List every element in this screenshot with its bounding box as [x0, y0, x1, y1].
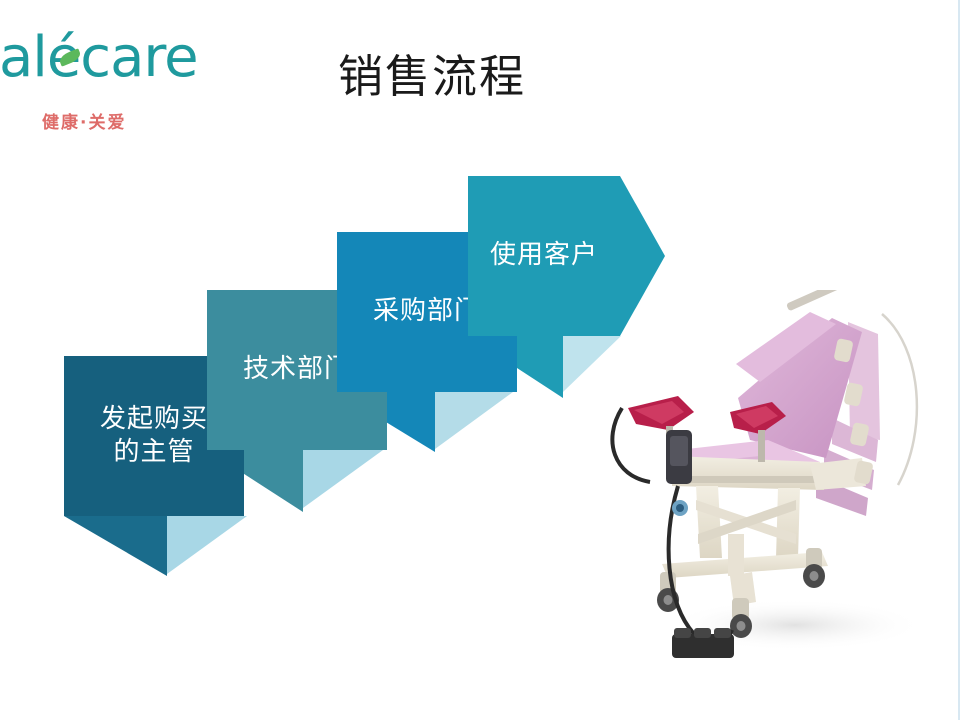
step-1-fold — [167, 516, 247, 574]
product-image-exam-chair — [610, 290, 960, 700]
flow-step-end-customer[interactable]: 使用客户 — [468, 176, 620, 336]
exam-chair-illustration — [610, 290, 960, 700]
step-1-tail — [64, 516, 167, 576]
flow-step-4-shape — [468, 176, 620, 336]
sales-process-flow: 发起购买 的主管 技术部门 采购部门 使用客户 — [0, 0, 700, 560]
step-2-fold — [303, 450, 383, 508]
slide-canvas: talécare 健康·关爱 销售流程 发起购买 的主管 技术部门 采购部门 — [0, 0, 960, 720]
step-3-fold — [435, 392, 513, 449]
